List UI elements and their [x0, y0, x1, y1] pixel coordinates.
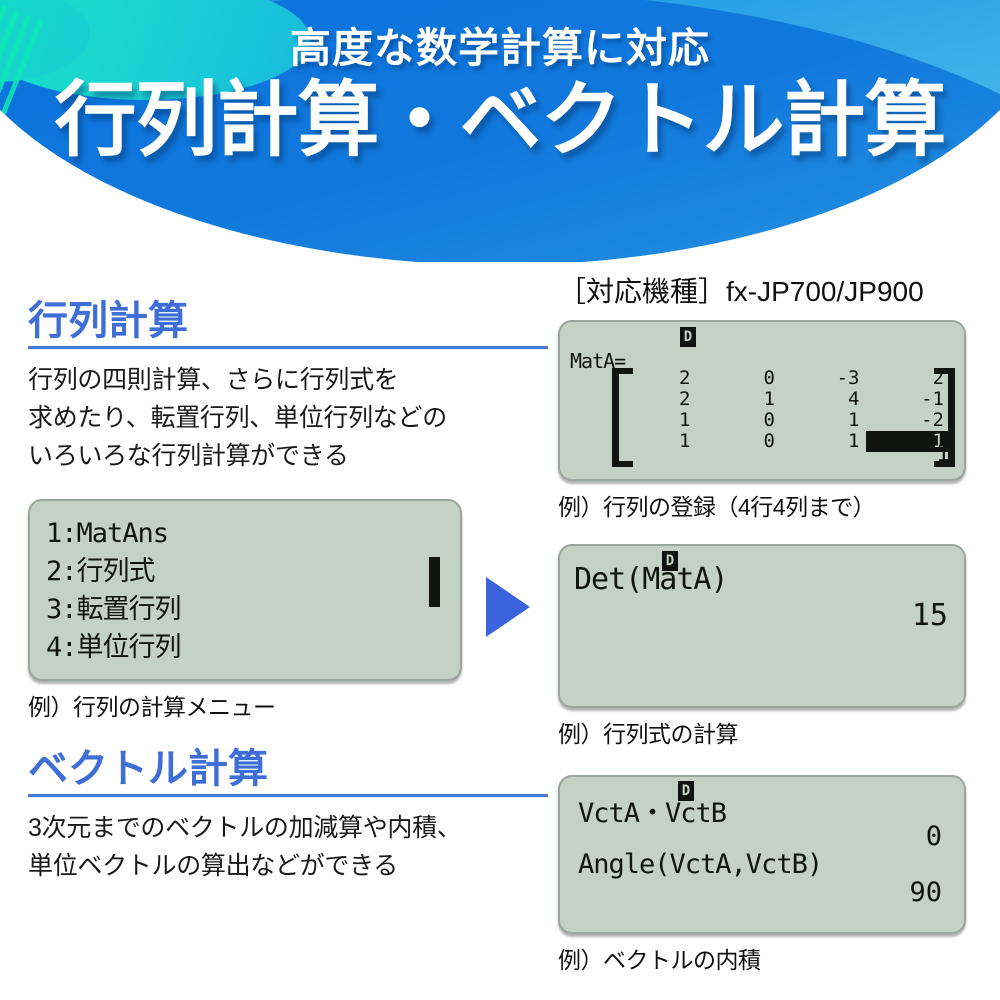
matrix-cell[interactable]: 2 — [866, 368, 951, 389]
matrix-cell[interactable]: 1 — [612, 410, 697, 431]
lcd-screen-matrix-menu[interactable]: 1:MatAns 2:行列式 3:転置行列 4:単位行列 — [28, 499, 462, 681]
matrix-cell[interactable]: 2 — [612, 368, 697, 389]
menu-item-identity[interactable]: 4:単位行列 — [46, 629, 181, 667]
matrix-cell[interactable]: 1 — [781, 431, 866, 452]
matrix-grid: 2 0 -3 2 2 1 4 -1 1 0 1 -2 — [612, 368, 950, 452]
matrix-cell[interactable]: 1 — [612, 431, 697, 452]
determinant-expression: Det(MatA) — [574, 562, 728, 597]
matrix-cell[interactable]: 0 — [697, 410, 782, 431]
lcd-screen-matrix-entry[interactable]: D MatA= 2 0 -3 2 2 1 4 -1 1 — [558, 320, 966, 481]
lcd-screen-vector[interactable]: D VctA・VctB 0 Angle(VctA,VctB) 90 — [558, 775, 966, 934]
hero-banner: 高度な数学計算に対応 行列計算・ベクトル計算 — [0, 0, 1000, 262]
matrix-row: 1 0 1 1 — [612, 431, 950, 452]
vector-section-rule — [28, 794, 548, 797]
mode-indicator-icon: D — [680, 327, 696, 347]
vector-angle-expression: Angle(VctA,VctB) — [578, 849, 822, 880]
matrix-cell[interactable]: 0 — [697, 431, 782, 452]
matrix-cell[interactable]: 1 — [781, 410, 866, 431]
menu-item-matans[interactable]: 1:MatAns — [46, 515, 181, 553]
vector-section-heading: ベクトル計算 — [28, 748, 548, 794]
matrix-row: 2 1 4 -1 — [612, 389, 950, 410]
hero-title: 行列計算・ベクトル計算 — [0, 77, 1000, 166]
vector-angle-result: 90 — [909, 877, 942, 908]
vector-dot-product-expression: VctA・VctB — [578, 791, 726, 830]
play-arrow-icon — [486, 577, 530, 637]
matrix-row: 2 0 -3 2 — [612, 368, 950, 389]
caption-vector: 例）ベクトルの内積 — [558, 941, 976, 975]
matrix-cell[interactable]: 0 — [697, 368, 782, 389]
hero-text-block: 高度な数学計算に対応 行列計算・ベクトル計算 — [0, 0, 1000, 262]
determinant-result: 15 — [912, 598, 948, 633]
menu-item-transpose[interactable]: 3:転置行列 — [46, 591, 181, 629]
caption-matrix-menu: 例）行列の計算メニュー — [28, 688, 548, 722]
content-area: 行列計算 行列の四則計算、さらに行列式を 求めたり、転置行列、単位行列などの い… — [0, 262, 1000, 1000]
matrix-row: 1 0 1 -2 — [612, 410, 950, 431]
matrix-cell[interactable]: -1 — [866, 389, 951, 410]
supported-models-label: ［対応機種］fx-JP700/JP900 — [558, 270, 976, 310]
menu-scrollbar[interactable] — [429, 557, 440, 607]
matrix-section-body: 行列の四則計算、さらに行列式を 求めたり、転置行列、単位行列などの いろいろな行… — [28, 361, 548, 475]
matrix-menu-list: 1:MatAns 2:行列式 3:転置行列 4:単位行列 — [46, 515, 181, 667]
vector-section-body: 3次元までのベクトルの加減算や内積、 単位ベクトルの算出などができる — [28, 809, 548, 885]
caption-matrix-entry: 例）行列の登録（4行4列まで） — [558, 488, 976, 522]
matrix-cell[interactable]: -3 — [781, 368, 866, 389]
matrix-cell[interactable]: 1 — [697, 389, 782, 410]
left-column: 行列計算 行列の四則計算、さらに行列式を 求めたり、転置行列、単位行列などの い… — [28, 262, 548, 885]
lcd-screen-determinant[interactable]: D Det(MatA) 15 — [558, 544, 966, 708]
matrix-section-heading: 行列計算 — [28, 300, 548, 346]
matrix-section-rule — [28, 346, 548, 349]
matrix-cell[interactable]: -2 — [866, 410, 951, 431]
matrix-cell[interactable]: 4 — [781, 389, 866, 410]
matrix-cell[interactable]: 2 — [612, 389, 697, 410]
caption-determinant: 例）行列式の計算 — [558, 715, 976, 749]
hero-subtitle: 高度な数学計算に対応 — [0, 26, 1000, 71]
menu-item-determinant[interactable]: 2:行列式 — [46, 553, 181, 591]
matrix-current-value: 1 — [936, 441, 950, 467]
right-column: ［対応機種］fx-JP700/JP900 D MatA= 2 0 -3 2 2 … — [558, 262, 976, 975]
vector-dot-product-result: 0 — [926, 821, 942, 852]
